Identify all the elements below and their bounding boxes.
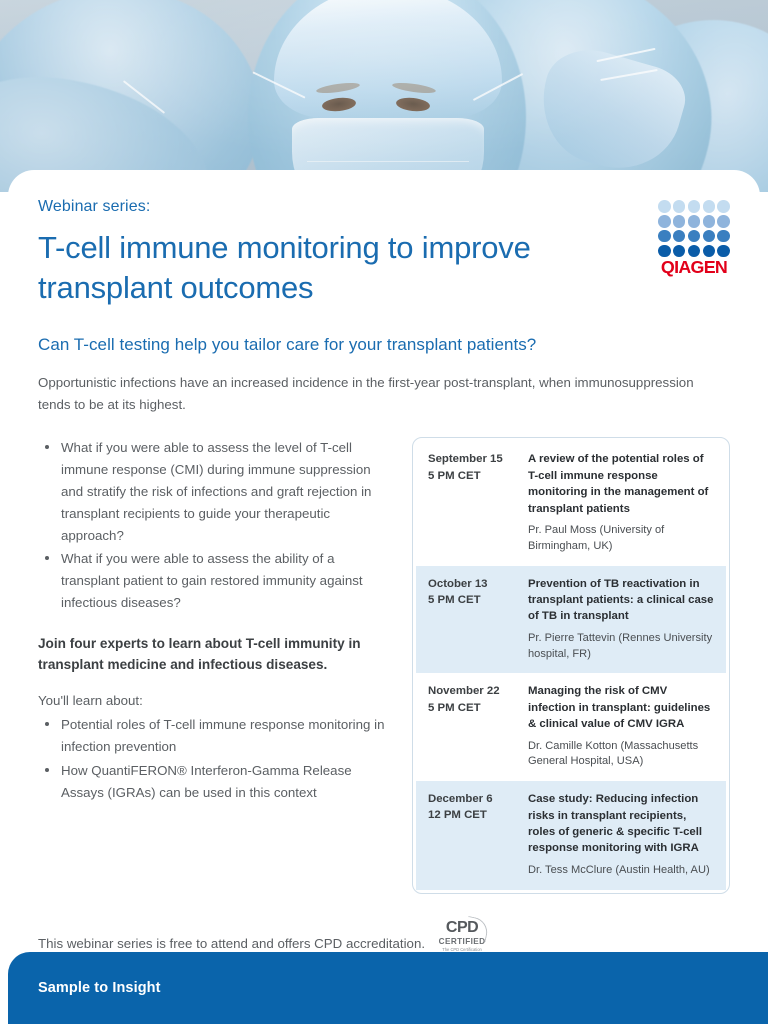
- session-speaker: Dr. Camille Kotton (Massachusetts Genera…: [528, 739, 716, 771]
- logo-dot: [688, 200, 701, 213]
- logo-dot: [673, 215, 686, 228]
- list-item: How QuantiFERON® Interferon-Gamma Releas…: [44, 760, 390, 804]
- qiagen-logo: QIAGEN: [658, 200, 730, 277]
- list-item: What if you were able to assess the leve…: [44, 437, 390, 546]
- experts-callout: Join four experts to learn about T-cell …: [38, 633, 390, 675]
- qiagen-logo-dots: [658, 200, 730, 257]
- session-speaker: Pr. Paul Moss (University of Birmingham,…: [528, 523, 716, 555]
- cpd-text: This webinar series is free to attend an…: [38, 933, 425, 954]
- logo-dot: [673, 245, 686, 258]
- footer-tagline: Sample to Insight: [38, 980, 161, 996]
- session-date: December 6 12 PM CET: [428, 791, 520, 878]
- session-date: September 15 5 PM CET: [428, 451, 520, 554]
- logo-dot: [673, 230, 686, 243]
- logo-dot: [703, 200, 716, 213]
- questions-list: What if you were able to assess the leve…: [44, 437, 390, 613]
- footer-bar: Sample to Insight: [8, 952, 768, 1024]
- list-item: Potential roles of T-cell immune respons…: [44, 714, 390, 758]
- session-title: Case study: Reducing infection risks in …: [528, 791, 716, 857]
- logo-dot: [717, 230, 730, 243]
- logo-dot: [673, 200, 686, 213]
- logo-dot: [703, 230, 716, 243]
- learn-list: Potential roles of T-cell immune respons…: [44, 714, 390, 803]
- hero-overlay: [0, 0, 768, 192]
- left-column: What if you were able to assess the leve…: [38, 437, 390, 893]
- logo-dot: [717, 215, 730, 228]
- session-speaker: Dr. Tess McClure (Austin Health, AU): [528, 863, 716, 879]
- logo-dot: [658, 200, 671, 213]
- session-title: A review of the potential roles of T-cel…: [528, 451, 716, 517]
- session-title: Managing the risk of CMV infection in tr…: [528, 683, 716, 732]
- subheading: Can T-cell testing help you tailor care …: [38, 335, 730, 355]
- session-speaker: Pr. Pierre Tattevin (Rennes University h…: [528, 631, 716, 663]
- webinar-series-eyebrow: Webinar series:: [38, 198, 730, 216]
- session-title: Prevention of TB reactivation in transpl…: [528, 576, 716, 625]
- list-item: What if you were able to assess the abil…: [44, 548, 390, 613]
- session-details: Managing the risk of CMV infection in tr…: [528, 683, 716, 770]
- logo-dot: [688, 230, 701, 243]
- webinar-schedule-table: September 15 5 PM CET A review of the po…: [412, 437, 730, 893]
- learn-lead: You'll learn about:: [38, 690, 390, 711]
- logo-dot: [658, 215, 671, 228]
- table-row: September 15 5 PM CET A review of the po…: [416, 441, 726, 565]
- body-columns: What if you were able to assess the leve…: [38, 437, 730, 893]
- logo-dot: [658, 230, 671, 243]
- logo-dot: [688, 215, 701, 228]
- logo-dot: [658, 245, 671, 258]
- logo-dot: [703, 245, 716, 258]
- table-row: November 22 5 PM CET Managing the risk o…: [416, 673, 726, 781]
- session-details: Prevention of TB reactivation in transpl…: [528, 576, 716, 663]
- page-title: T-cell immune monitoring to improve tran…: [38, 228, 648, 307]
- logo-dot: [688, 245, 701, 258]
- table-row: December 6 12 PM CET Case study: Reducin…: [416, 781, 726, 889]
- logo-dot: [717, 245, 730, 258]
- right-column: September 15 5 PM CET A review of the po…: [412, 437, 730, 893]
- hero-image: [0, 0, 768, 192]
- logo-dot: [703, 215, 716, 228]
- qiagen-wordmark: QIAGEN: [657, 259, 730, 277]
- session-date: November 22 5 PM CET: [428, 683, 520, 770]
- session-details: Case study: Reducing infection risks in …: [528, 791, 716, 878]
- intro-paragraph: Opportunistic infections have an increas…: [38, 372, 718, 415]
- session-details: A review of the potential roles of T-cel…: [528, 451, 716, 554]
- content-card: QIAGEN Webinar series: T-cell immune mon…: [8, 170, 760, 960]
- session-date: October 13 5 PM CET: [428, 576, 520, 663]
- table-row: October 13 5 PM CET Prevention of TB rea…: [416, 566, 726, 674]
- logo-dot: [717, 200, 730, 213]
